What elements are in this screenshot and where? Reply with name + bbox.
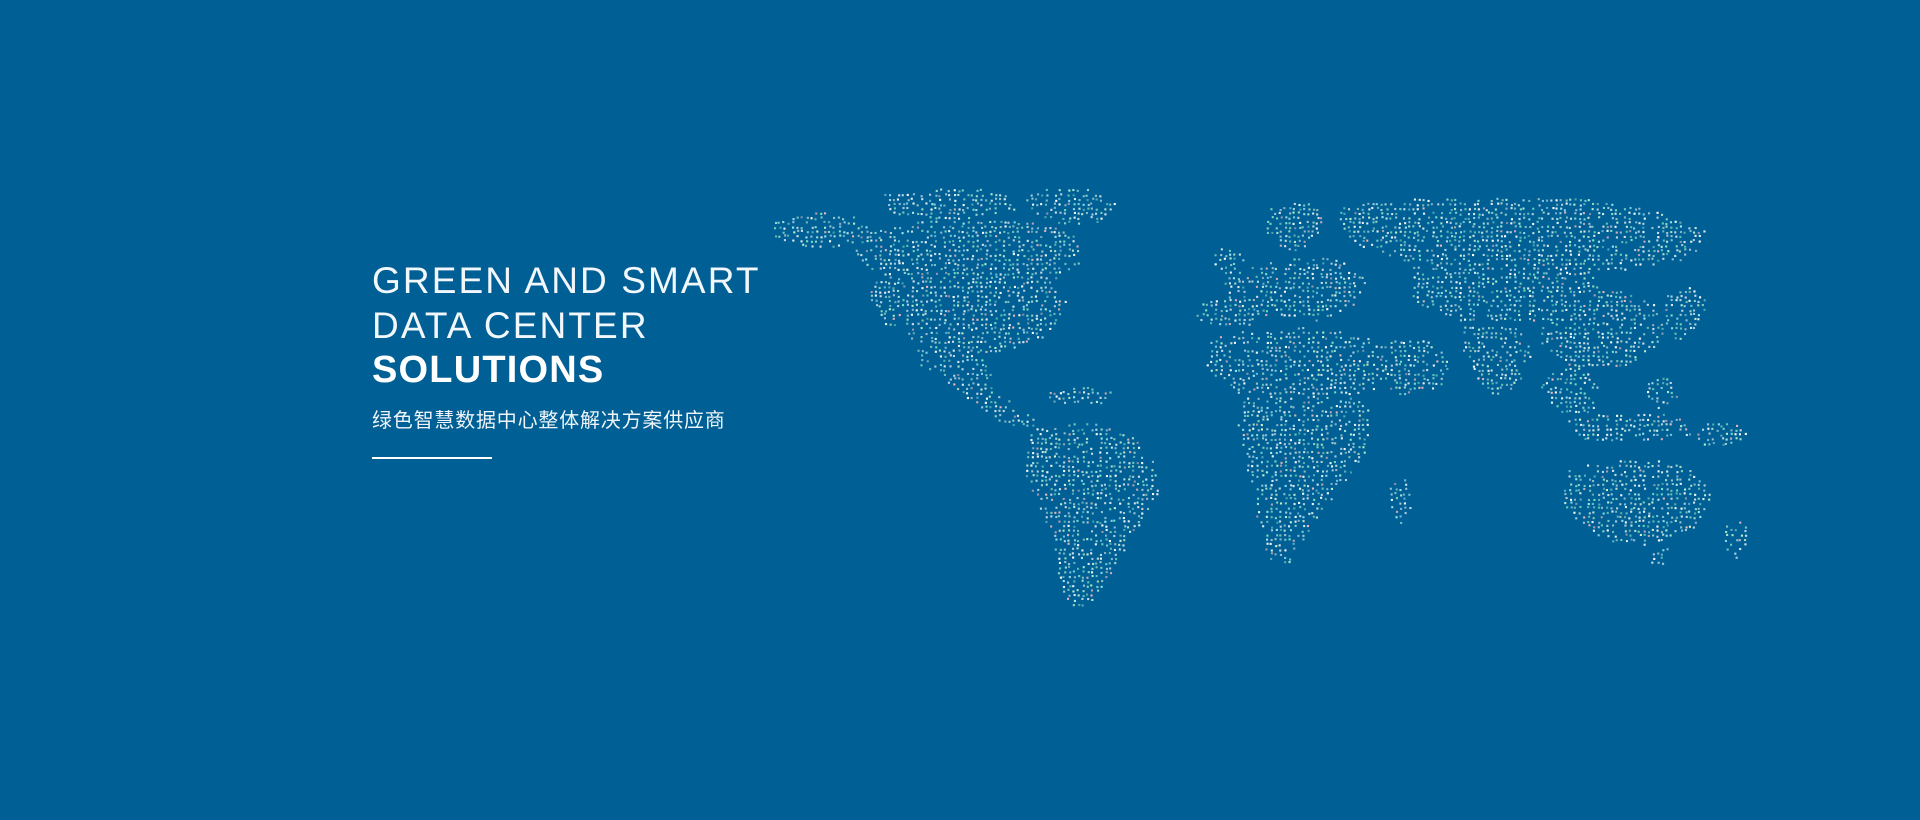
headline-line-3: SOLUTIONS [372, 348, 1012, 393]
headline-line-2: DATA CENTER [372, 303, 1012, 348]
title-divider [372, 457, 492, 459]
hero-banner: GREEN AND SMART DATA CENTER SOLUTIONS 绿色… [0, 0, 1920, 820]
page-title: GREEN AND SMART DATA CENTER SOLUTIONS [372, 258, 1012, 393]
subtitle-chinese: 绿色智慧数据中心整体解决方案供应商 [372, 407, 1012, 435]
hero-text-block: GREEN AND SMART DATA CENTER SOLUTIONS 绿色… [372, 258, 1012, 459]
headline-line-1: GREEN AND SMART [372, 258, 1012, 303]
